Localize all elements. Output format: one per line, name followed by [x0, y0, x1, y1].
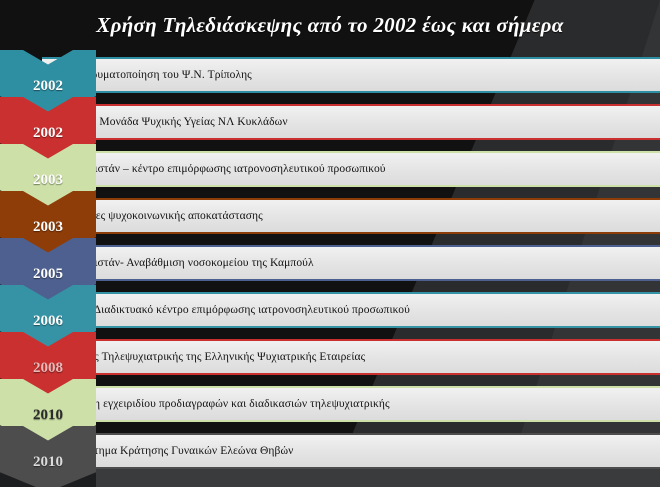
- timeline-event-bar: •Κλάδος Τηλεψυχιατρικής της Ελληνικής Ψυ…: [42, 339, 660, 375]
- slide-canvas: Χρήση Τηλεδιάσκεψης από το 2002 έως και …: [0, 0, 660, 487]
- timeline-row: •Μονάδες ψυχοκοινωνικής αποκατάστασης200…: [0, 191, 660, 238]
- timeline-year-label: 2005: [33, 260, 63, 283]
- timeline-year-label: 2003: [33, 166, 63, 189]
- timeline-row: •Κατάστημα Κράτησης Γυναικών Ελεώνα Θηβώ…: [0, 426, 660, 473]
- timeline-event-text: Κλάδος Τηλεψυχιατρικής της Ελληνικής Ψυχ…: [53, 351, 366, 363]
- timeline-list: •Αποιδρυματοποίηση του Ψ.Ν. Τρίπολης2002…: [0, 50, 660, 473]
- timeline-year-label: 2010: [33, 448, 63, 471]
- timeline-row: •Κλάδος Τηλεψυχιατρικής της Ελληνικής Ψυ…: [0, 332, 660, 379]
- title-bar: Χρήση Τηλεδιάσκεψης από το 2002 έως και …: [0, 0, 660, 50]
- timeline-row: •Κινητή Μονάδα Ψυχικής Υγείας ΝΛ Κυκλάδω…: [0, 97, 660, 144]
- timeline-event-bar: •Κινητή Μονάδα Ψυχικής Υγείας ΝΛ Κυκλάδω…: [42, 104, 660, 140]
- timeline-event-text: Λφγανιστάν – κέντρο επιμόρφωσης ιατρονοσ…: [53, 163, 386, 175]
- timeline-event-bar: •Μονάδες ψυχοκοινωνικής αποκατάστασης: [42, 198, 660, 234]
- timeline-event-text: Ιράκ - Διαδικτυακό κέντρο επιμόρφωσης ια…: [53, 304, 410, 316]
- timeline-row: •Έκδοση εγχειριδίου προδιαγραφών και δια…: [0, 379, 660, 426]
- timeline-event-bar: •Έκδοση εγχειριδίου προδιαγραφών και δια…: [42, 386, 660, 422]
- timeline-row: •Λφγανιστάν – κέντρο επιμόρφωσης ιατρονο…: [0, 144, 660, 191]
- timeline-event-bar: •Ιράκ - Διαδικτυακό κέντρο επιμόρφωσης ι…: [42, 292, 660, 328]
- timeline-event-bar: •Αποιδρυματοποίηση του Ψ.Ν. Τρίπολης: [42, 57, 660, 93]
- timeline-year-label: 2003: [33, 213, 63, 236]
- timeline-year-label: 2002: [33, 72, 63, 95]
- timeline-event-bar: •Αφγανιστάν- Αναβάθμιση νοσοκομείου της …: [42, 245, 660, 281]
- timeline-row: •Αποιδρυματοποίηση του Ψ.Ν. Τρίπολης2002: [0, 50, 660, 97]
- timeline-year-label: 2002: [33, 119, 63, 142]
- timeline-event-bar: •Κατάστημα Κράτησης Γυναικών Ελεώνα Θηβώ…: [42, 433, 660, 469]
- timeline-event-bar: •Λφγανιστάν – κέντρο επιμόρφωσης ιατρονο…: [42, 151, 660, 187]
- timeline-row: •Αφγανιστάν- Αναβάθμιση νοσοκομείου της …: [0, 238, 660, 285]
- timeline-year-label: 2008: [33, 354, 63, 377]
- timeline-year-label: 2010: [33, 401, 63, 424]
- timeline-year-label: 2006: [33, 307, 63, 330]
- timeline-event-text: Έκδοση εγχειριδίου προδιαγραφών και διαδ…: [53, 398, 390, 410]
- timeline-row: •Ιράκ - Διαδικτυακό κέντρο επιμόρφωσης ι…: [0, 285, 660, 332]
- page-title: Χρήση Τηλεδιάσκεψης από το 2002 έως και …: [96, 13, 563, 38]
